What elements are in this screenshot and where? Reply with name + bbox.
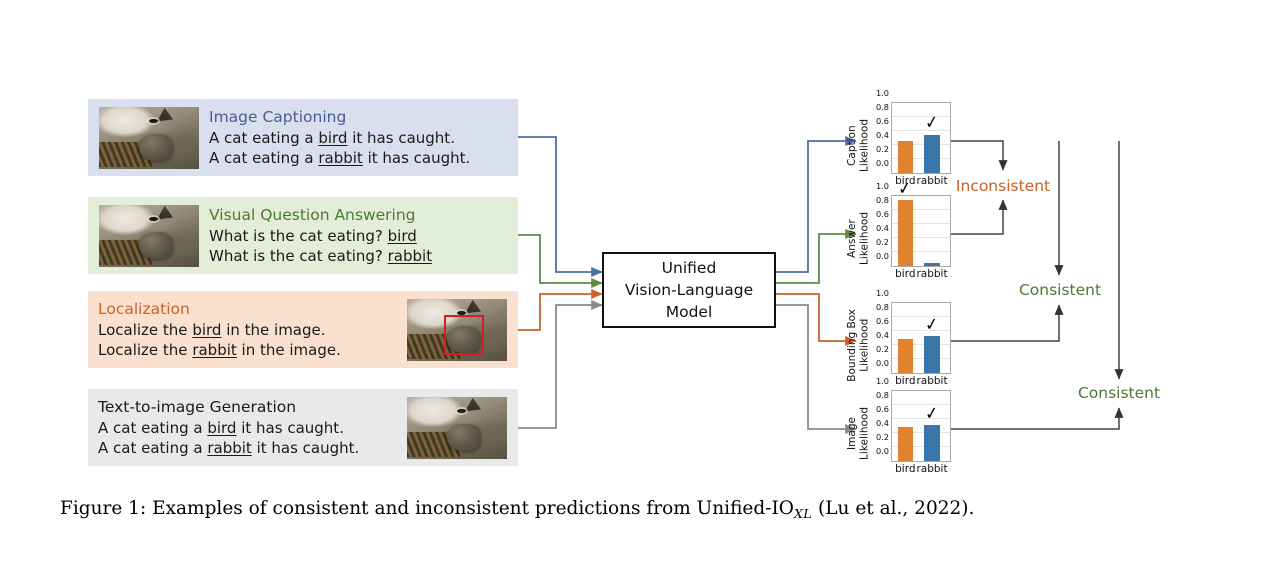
bar-rabbit — [924, 135, 939, 173]
chart-plot-area: 0.0 0.2 0.4 0.6 0.8 1.0 ✓ bird rabbit — [891, 302, 951, 374]
wire-localization-out — [772, 294, 856, 341]
chart-image-likelihood: Image Likelihood 0.0 0.2 0.4 0.6 0.8 1.0… — [845, 388, 955, 478]
y-tick-label: 0.0 — [876, 158, 889, 168]
chart-ylabel-image-likelihood: Image Likelihood — [845, 388, 871, 478]
gridline — [892, 116, 950, 117]
y-tick-label: 0.8 — [876, 390, 889, 400]
verdict-inconsistent: Inconsistent — [956, 177, 1050, 195]
wire-t2i-in — [518, 305, 602, 428]
y-tick-label: 0.4 — [876, 330, 889, 340]
chart-plot-area: 0.0 0.2 0.4 0.6 0.8 1.0 ✓ bird rabbit — [891, 195, 951, 267]
y-tick-label: 0.4 — [876, 130, 889, 140]
bar-bird — [898, 141, 913, 173]
checkmark-icon: ✓ — [924, 404, 941, 423]
y-tick-label: 0.8 — [876, 195, 889, 205]
model-line-1: Unified — [625, 257, 753, 279]
chart-plot-area: 0.0 0.2 0.4 0.6 0.8 1.0 ✓ bird rabbit — [891, 390, 951, 462]
gridline — [892, 418, 950, 419]
model-line-2: Vision-Language — [625, 279, 753, 301]
chart-bounding-box-likelihood: Bounding Box Likelihood 0.0 0.2 0.4 0.6 … — [845, 300, 955, 390]
y-tick-label: 0.6 — [876, 404, 889, 414]
wire-answer-to-inconsistent — [951, 200, 1003, 234]
x-tick-label-bird: bird — [895, 375, 915, 387]
y-tick-label: 0.6 — [876, 316, 889, 326]
y-tick-label: 0.8 — [876, 302, 889, 312]
y-tick-label: 1.0 — [876, 376, 889, 386]
model-box: Unified Vision-Language Model — [602, 252, 776, 328]
chart-caption-likelihood: Caption Likelihood 0.0 0.2 0.4 0.6 0.8 1… — [845, 100, 955, 190]
gridline — [892, 130, 950, 131]
verdict-consistent-bottom: Consistent — [1078, 384, 1160, 402]
gridline — [892, 316, 950, 317]
y-tick-label: 0.8 — [876, 102, 889, 112]
verdict-consistent-mid: Consistent — [1019, 281, 1101, 299]
y-tick-label: 0.4 — [876, 418, 889, 428]
bar-bird — [898, 200, 913, 267]
chart-ylabel-bounding-box-likelihood: Bounding Box Likelihood — [845, 300, 871, 390]
caption-suffix: (Lu et al., 2022). — [812, 498, 974, 519]
chart-ylabel-answer-likelihood: Answer Likelihood — [845, 193, 871, 283]
chart-plot-area: 0.0 0.2 0.4 0.6 0.8 1.0 ✓ bird rabbit — [891, 102, 951, 174]
checkmark-icon: ✓ — [924, 316, 941, 335]
y-tick-label: 0.2 — [876, 344, 889, 354]
checkmark-icon: ✓ — [897, 180, 914, 199]
wire-localization-in — [518, 294, 602, 330]
caption-subscript: XL — [794, 506, 812, 521]
model-line-3: Model — [625, 301, 753, 323]
bar-rabbit — [924, 336, 939, 373]
gridline — [892, 404, 950, 405]
y-tick-label: 0.6 — [876, 209, 889, 219]
figure-1: Image Captioning A cat eating a bird it … — [0, 0, 1268, 566]
wire-captioning-out — [772, 141, 856, 272]
wire-vqa-out — [772, 234, 856, 283]
wire-bbox-to-consistent — [951, 305, 1059, 341]
gridline — [892, 330, 950, 331]
y-tick-label: 0.2 — [876, 144, 889, 154]
y-tick-label: 0.0 — [876, 358, 889, 368]
chart-ylabel-caption-likelihood: Caption Likelihood — [845, 100, 871, 190]
y-tick-label: 0.0 — [876, 251, 889, 261]
model-box-label: Unified Vision-Language Model — [625, 257, 753, 323]
y-tick-label: 1.0 — [876, 181, 889, 191]
wire-captioning-in — [518, 137, 602, 272]
y-tick-label: 0.2 — [876, 237, 889, 247]
checkmark-icon: ✓ — [924, 114, 941, 133]
x-tick-label-rabbit: rabbit — [916, 463, 947, 475]
bar-bird — [898, 339, 913, 373]
bar-bird — [898, 427, 913, 461]
wire-caption-to-inconsistent — [951, 141, 1003, 170]
bar-rabbit — [924, 425, 939, 461]
x-tick-label-rabbit: rabbit — [916, 268, 947, 280]
caption-prefix: Figure 1: Examples of consistent and inc… — [60, 498, 794, 519]
y-tick-label: 0.4 — [876, 223, 889, 233]
y-tick-label: 1.0 — [876, 288, 889, 298]
x-tick-label-bird: bird — [895, 463, 915, 475]
bar-rabbit — [924, 263, 939, 266]
y-tick-label: 0.2 — [876, 432, 889, 442]
figure-caption: Figure 1: Examples of consistent and inc… — [60, 498, 974, 521]
wire-t2i-out — [772, 305, 856, 429]
x-tick-label-rabbit: rabbit — [916, 375, 947, 387]
x-tick-label-bird: bird — [895, 268, 915, 280]
y-tick-label: 0.0 — [876, 446, 889, 456]
y-tick-label: 1.0 — [876, 88, 889, 98]
wire-vqa-in — [518, 235, 602, 283]
x-tick-label-rabbit: rabbit — [916, 175, 947, 187]
y-tick-label: 0.6 — [876, 116, 889, 126]
chart-answer-likelihood: Answer Likelihood 0.0 0.2 0.4 0.6 0.8 1.… — [845, 193, 955, 283]
wire-image-to-final — [951, 408, 1119, 429]
